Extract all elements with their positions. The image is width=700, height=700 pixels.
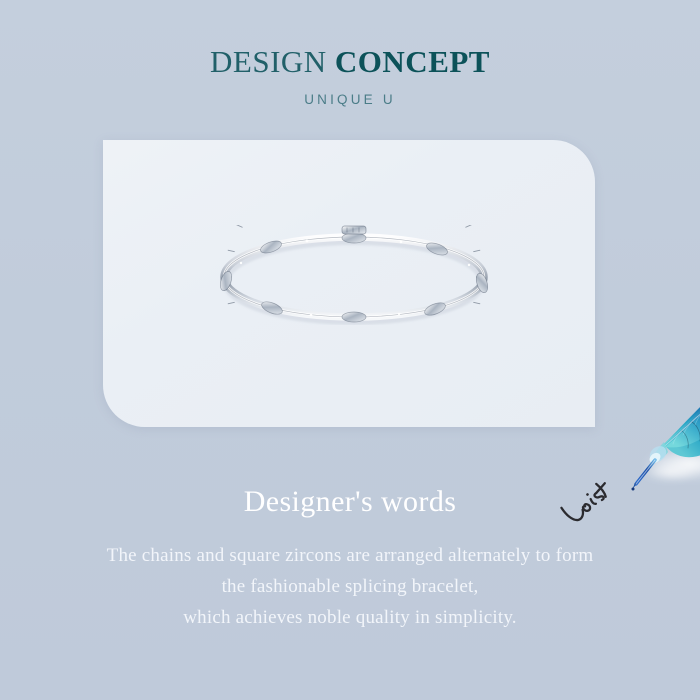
designer-words-body: The chains and square zircons are arrang… [0, 540, 700, 633]
designer-words-line-1: The chains and square zircons are arrang… [0, 540, 700, 571]
designer-words-line-3: which achieves noble quality in simplici… [0, 602, 700, 633]
title-word-concept: CONCEPT [335, 44, 490, 79]
feather-quill-pen [628, 332, 700, 502]
designer-words-heading: Designer's words [0, 483, 700, 521]
designer-words-line-2: the fashionable splicing bracelet, [0, 571, 700, 602]
page-subtitle: UNIQUE U [0, 92, 700, 107]
product-card-wrapper [103, 140, 595, 427]
design-concept-page: DESIGN CONCEPT UNIQUE U [0, 0, 700, 700]
bracelet-product-image [211, 225, 496, 325]
page-title: DESIGN CONCEPT [0, 44, 700, 80]
title-word-design: DESIGN [210, 44, 327, 79]
page-header: DESIGN CONCEPT UNIQUE U [0, 44, 700, 107]
